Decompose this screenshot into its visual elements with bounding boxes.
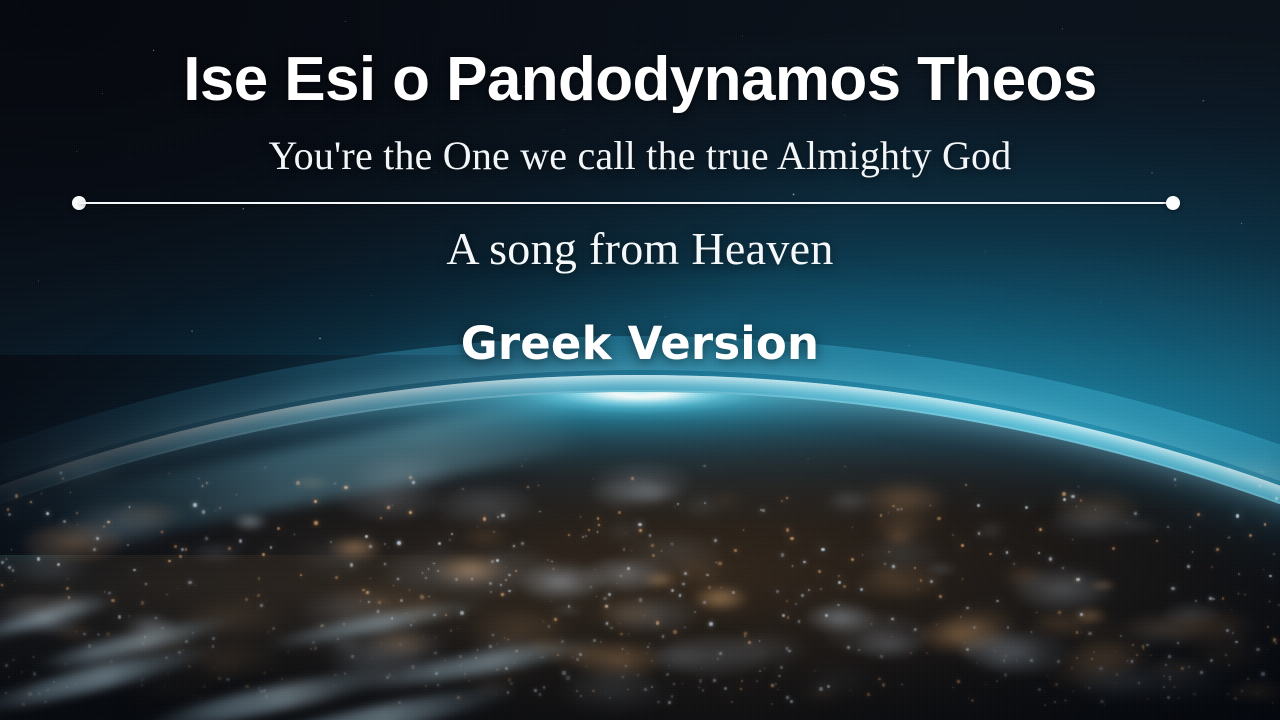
divider-dot-right-icon <box>1166 196 1180 210</box>
page-title: Ise Esi o Pandodynamos Theos <box>0 46 1280 114</box>
title-card-overlay: Ise Esi o Pandodynamos Theos You're the … <box>0 0 1280 720</box>
version-label: Greek Version <box>0 318 1280 370</box>
title-translation-subtitle: You're the One we call the true Almighty… <box>0 133 1280 179</box>
divider-rule <box>79 202 1173 204</box>
tagline: A song from Heaven <box>0 222 1280 276</box>
video-title-card: Ise Esi o Pandodynamos Theos You're the … <box>0 0 1280 720</box>
divider <box>72 196 1180 210</box>
